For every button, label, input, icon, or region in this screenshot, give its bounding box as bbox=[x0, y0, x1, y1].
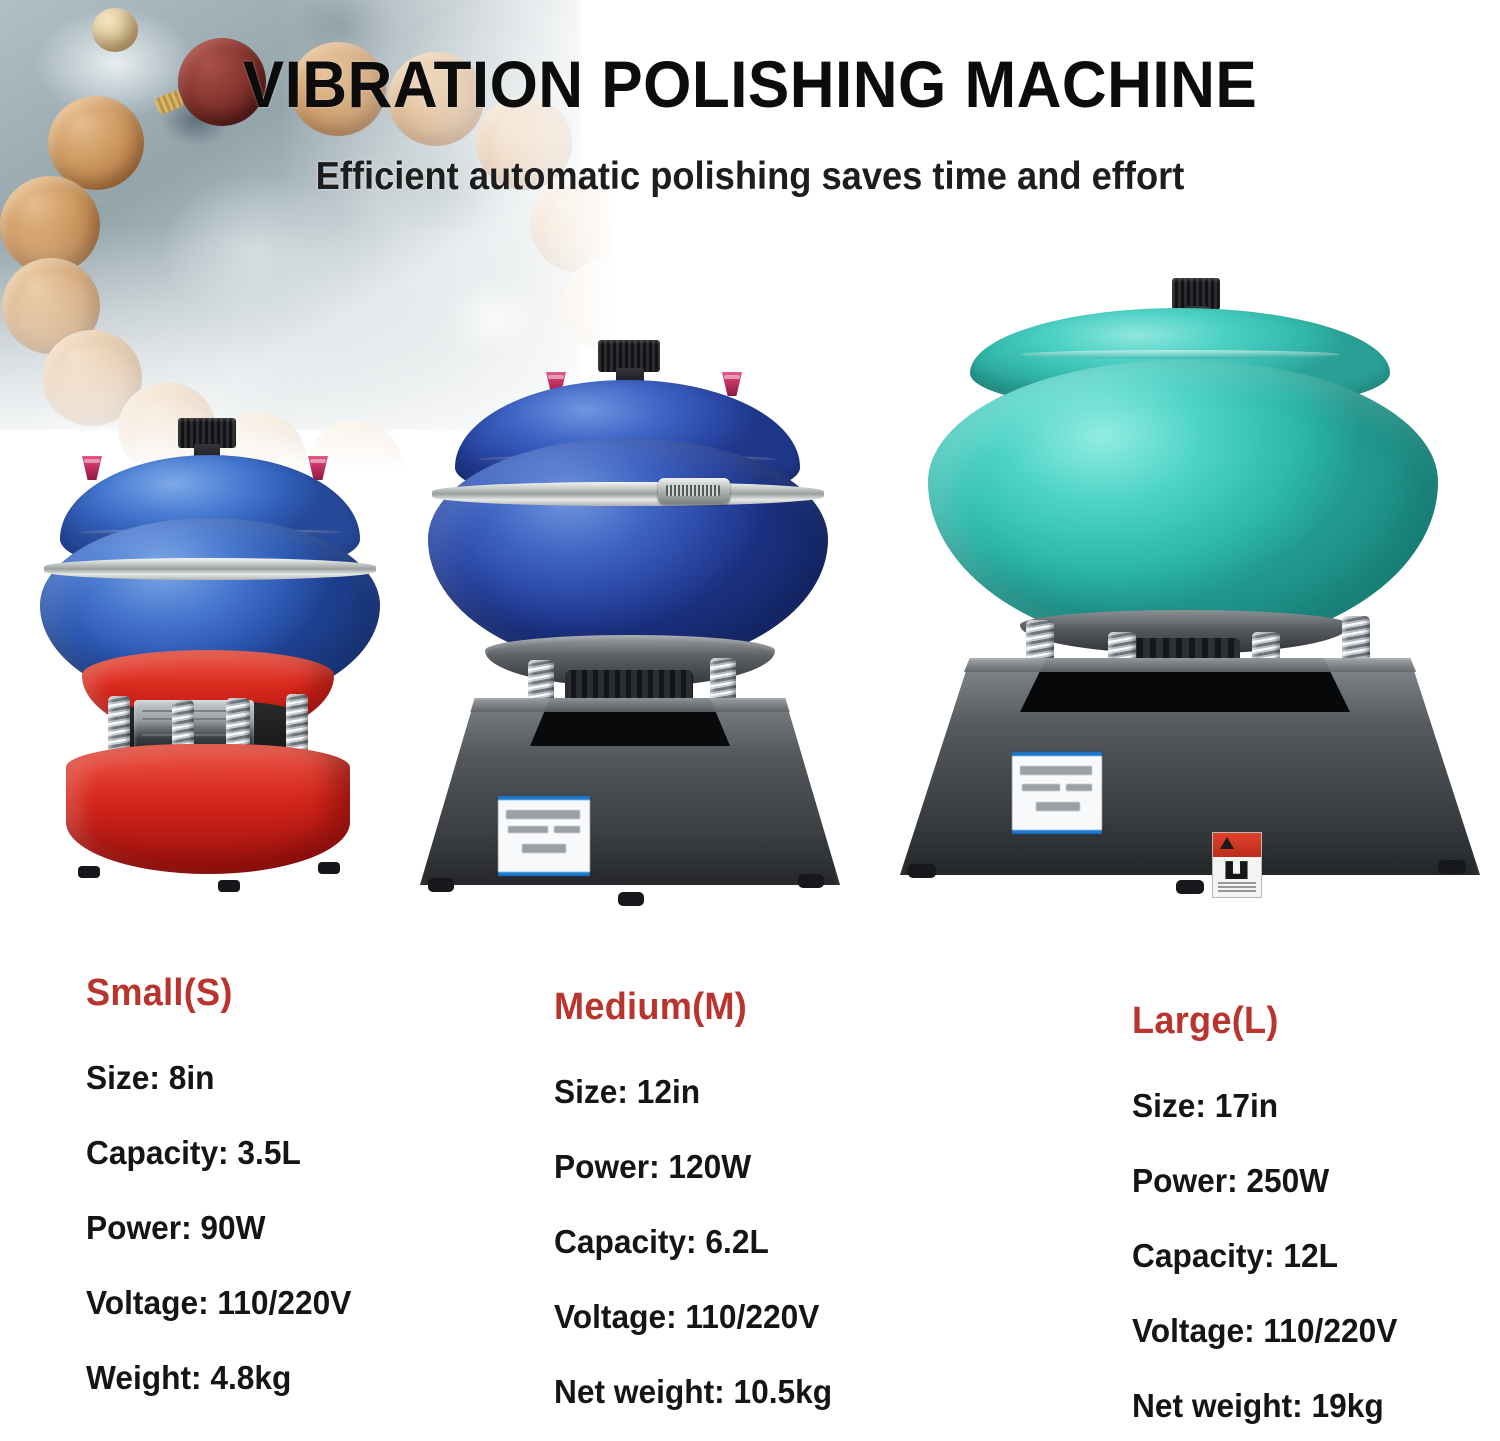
spec-label: Power: bbox=[1132, 1162, 1238, 1199]
spec-label: Net weight: bbox=[1132, 1387, 1303, 1424]
spec-heading-small: Small(S) bbox=[86, 972, 349, 1015]
base-spec-label bbox=[1012, 752, 1102, 834]
lid-clamp-left bbox=[82, 456, 102, 480]
spec-row: Power: 250W bbox=[1132, 1162, 1397, 1200]
spec-value: 8in bbox=[169, 1059, 215, 1096]
base-spec-label bbox=[498, 796, 590, 876]
warning-text-lines bbox=[1218, 882, 1256, 894]
page-title: VIBRATION POLISHING MACHINE bbox=[45, 46, 1455, 122]
hazard-pictogram-icon bbox=[1225, 861, 1247, 879]
spec-value: 6.2L bbox=[705, 1223, 768, 1260]
spec-row: Voltage: 110/220V bbox=[554, 1298, 832, 1336]
spec-label: Size: bbox=[1132, 1087, 1206, 1124]
spec-label: Size: bbox=[554, 1073, 628, 1110]
base-foot bbox=[218, 880, 240, 892]
spec-value: 12in bbox=[637, 1073, 700, 1110]
base-lower-body bbox=[66, 744, 350, 874]
spec-row: Power: 90W bbox=[86, 1209, 351, 1247]
base-foot bbox=[1176, 880, 1204, 894]
spec-label: Size: bbox=[86, 1059, 160, 1096]
product-image-medium bbox=[400, 330, 860, 970]
spec-value: 4.8kg bbox=[210, 1359, 291, 1396]
bowl-body bbox=[928, 360, 1438, 650]
chrome-clamp-band bbox=[432, 482, 824, 506]
product-image-large bbox=[880, 260, 1500, 970]
chrome-clamp-band bbox=[44, 558, 376, 580]
spec-value: 90W bbox=[200, 1209, 265, 1246]
spec-row: Size: 8in bbox=[86, 1059, 351, 1097]
clamp-screw-mechanism bbox=[658, 478, 730, 504]
product-infographic: VIBRATION POLISHING MACHINE Efficient au… bbox=[0, 0, 1500, 1441]
spec-column-large: Large(L) Size: 17in Power: 250W Capacity… bbox=[1132, 1000, 1408, 1441]
spec-label: Voltage: bbox=[86, 1284, 209, 1321]
base-foot bbox=[798, 874, 824, 888]
base-foot bbox=[318, 862, 340, 874]
base-foot bbox=[1438, 860, 1466, 874]
lid-clamp-right bbox=[722, 372, 742, 396]
spec-label: Capacity: bbox=[554, 1223, 697, 1260]
spec-value: 17in bbox=[1215, 1087, 1278, 1124]
spec-value: 120W bbox=[668, 1148, 751, 1185]
page-subtitle: Efficient automatic polishing saves time… bbox=[53, 155, 1448, 199]
base-foot bbox=[908, 864, 936, 878]
spec-row: Capacity: 3.5L bbox=[86, 1134, 351, 1172]
base-foot bbox=[428, 878, 454, 892]
spec-column-small: Small(S) Size: 8in Capacity: 3.5L Power:… bbox=[86, 972, 362, 1434]
spec-row: Net weight: 10.5kg bbox=[554, 1373, 832, 1411]
base-top-edge bbox=[900, 658, 1480, 672]
spec-label: Power: bbox=[554, 1148, 660, 1185]
spec-row: Size: 12in bbox=[554, 1073, 832, 1111]
base-foot bbox=[618, 892, 644, 906]
base-top-edge bbox=[420, 698, 840, 712]
spec-value: 19kg bbox=[1312, 1387, 1384, 1424]
product-image-small bbox=[30, 400, 390, 920]
base-foot bbox=[78, 866, 100, 878]
spec-heading-large: Large(L) bbox=[1132, 1000, 1395, 1043]
spec-column-medium: Medium(M) Size: 12in Power: 120W Capacit… bbox=[554, 986, 844, 1441]
spec-value: 10.5kg bbox=[734, 1373, 833, 1410]
spec-value: 110/220V bbox=[217, 1284, 351, 1321]
lid-ridge bbox=[1020, 350, 1339, 359]
spec-label: Voltage: bbox=[1132, 1312, 1255, 1349]
spec-heading-medium: Medium(M) bbox=[554, 986, 829, 1029]
spec-row: Capacity: 6.2L bbox=[554, 1223, 832, 1261]
spec-row: Power: 120W bbox=[554, 1148, 832, 1186]
spec-label: Weight: bbox=[86, 1359, 202, 1396]
spec-label: Net weight: bbox=[554, 1373, 725, 1410]
spec-label: Power: bbox=[86, 1209, 192, 1246]
spec-value: 3.5L bbox=[237, 1134, 300, 1171]
spec-label: Capacity: bbox=[86, 1134, 229, 1171]
spec-value: 110/220V bbox=[685, 1298, 819, 1335]
warning-sticker bbox=[1212, 832, 1262, 898]
warning-triangle-icon bbox=[1220, 837, 1234, 849]
spec-row: Size: 17in bbox=[1132, 1087, 1397, 1125]
spec-row: Voltage: 110/220V bbox=[1132, 1312, 1397, 1350]
spec-value: 250W bbox=[1246, 1162, 1329, 1199]
spec-value: 110/220V bbox=[1263, 1312, 1397, 1349]
spec-label: Voltage: bbox=[554, 1298, 677, 1335]
spec-value: 12L bbox=[1283, 1237, 1338, 1274]
spec-label: Capacity: bbox=[1132, 1237, 1275, 1274]
spec-row: Capacity: 12L bbox=[1132, 1237, 1397, 1275]
spec-row: Weight: 4.8kg bbox=[86, 1359, 351, 1397]
bowl-body bbox=[428, 438, 828, 668]
spec-row: Voltage: 110/220V bbox=[86, 1284, 351, 1322]
spec-row: Net weight: 19kg bbox=[1132, 1387, 1397, 1425]
